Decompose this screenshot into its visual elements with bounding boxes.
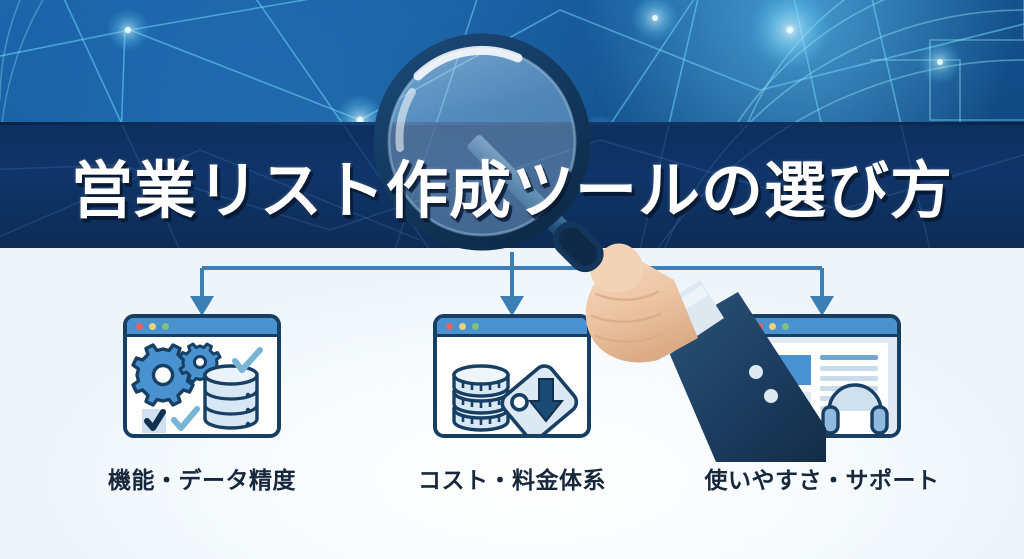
window-chrome-bar xyxy=(127,318,277,337)
window-dot-red xyxy=(136,323,143,330)
window-dot-yellow xyxy=(149,323,156,330)
banner-image: 機能・データ精度 コスト・料金体系 使いやすさ・サポート 営業リスト作成ツールの… xyxy=(0,0,1024,559)
caption-features-data-accuracy: 機能・データ精度 xyxy=(52,461,352,495)
caption-cost-pricing: コスト・料金体系 xyxy=(362,461,662,495)
card-body xyxy=(127,337,277,438)
card-body xyxy=(437,337,587,438)
window-dot-green xyxy=(162,323,169,330)
features-icon-group xyxy=(127,337,277,438)
coin-stack-icon xyxy=(454,366,508,430)
cost-icon-group xyxy=(437,337,587,438)
card-features-data-accuracy[interactable] xyxy=(123,314,281,438)
checkbox-checked-icon xyxy=(142,409,166,433)
checkmark-icon-2 xyxy=(174,409,197,428)
caption-usability-support: 使いやすさ・サポート xyxy=(672,461,972,495)
database-icon xyxy=(205,366,257,428)
magnifying-glass-icon xyxy=(370,30,670,330)
checkmark-icon xyxy=(235,350,260,370)
